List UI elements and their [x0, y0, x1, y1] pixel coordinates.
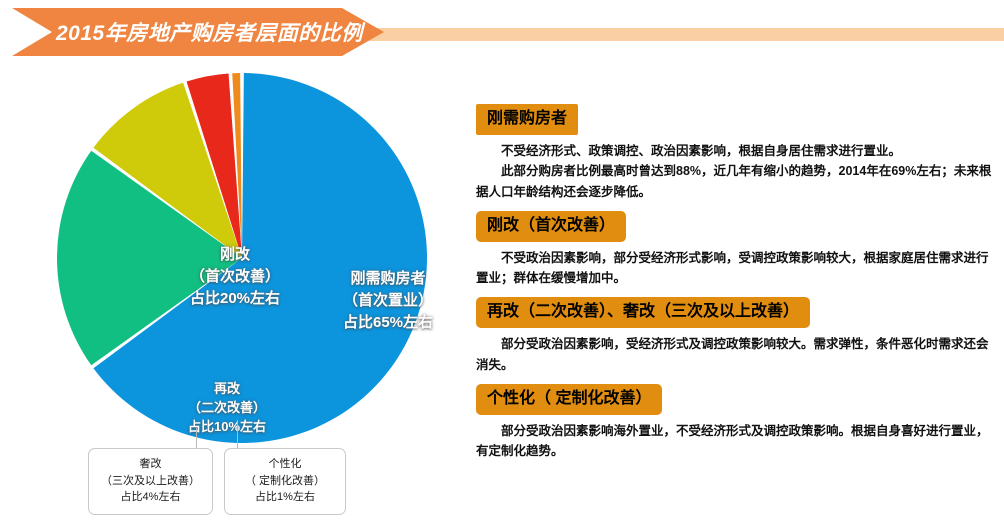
description-block-second-luxury-upgrade: 再改（二次改善）、奢改（三次及以上改善） 部分受政治因素影响，受经济形式及调控政…	[476, 297, 996, 375]
callout-luxury-line3: 占比4%左右	[95, 489, 206, 506]
block-body-first-upgrade-p1: 不受政治因素影响，部分受经济形式影响，受调控政策影响较大，根据家庭居住需求进行置…	[476, 248, 996, 289]
title-banner: 2015年房地产购房者层面的比例	[0, 8, 1004, 56]
callout-personalized-line2: （ 定制化改善）	[231, 473, 339, 490]
block-body-second-luxury-upgrade: 部分受政治因素影响，受经济形式及调控政策影响较大。需求弹性，条件恶化时需求还会消…	[476, 334, 996, 375]
description-panel: 刚需购房者 不受经济形式、政策调控、政治因素影响，根据自身居住需求进行置业。 此…	[476, 104, 996, 470]
block-body-first-home: 不受经济形式、政策调控、政治因素影响，根据自身居住需求进行置业。 此部分购房者比…	[476, 141, 996, 202]
block-body-personalized-p1: 部分受政治因素影响海外置业，不受经济形式及调控政策影响。根据自身喜好进行置业，有…	[476, 421, 996, 462]
callout-luxury-line1: 奢改	[95, 456, 206, 473]
pie-slice-group	[57, 73, 427, 443]
block-heading-personalized: 个性化（ 定制化改善）	[476, 384, 662, 415]
block-body-first-home-p2: 此部分购房者比例最高时曾达到88%，近几年有缩小的趋势，2014年在69%左右；…	[476, 161, 996, 202]
callout-personalized-line1: 个性化	[231, 456, 339, 473]
pie-chart: 刚需购房者 （首次置业） 占比65%左右 刚改 （首次改善） 占比20%左右 再…	[52, 72, 432, 444]
block-heading-first-upgrade: 刚改（首次改善）	[476, 211, 626, 242]
callout-personalized-line3: 占比1%左右	[231, 489, 339, 506]
callout-personalized: 个性化 （ 定制化改善） 占比1%左右	[224, 448, 346, 515]
banner-tail-bar	[356, 28, 1004, 41]
block-heading-second-luxury-upgrade: 再改（二次改善）、奢改（三次及以上改善）	[476, 297, 810, 328]
description-block-first-home: 刚需购房者 不受经济形式、政策调控、政治因素影响，根据自身居住需求进行置业。 此…	[476, 104, 996, 202]
page-title: 2015年房地产购房者层面的比例	[56, 8, 363, 56]
infographic-root: 2015年房地产购房者层面的比例 刚需购房者 （首次置业） 占比65%左右 刚改…	[0, 0, 1004, 520]
block-body-personalized: 部分受政治因素影响海外置业，不受经济形式及调控政策影响。根据自身喜好进行置业，有…	[476, 421, 996, 462]
pie-chart-svg	[52, 72, 432, 444]
block-body-first-upgrade: 不受政治因素影响，部分受经济形式影响，受调控政策影响较大，根据家庭居住需求进行置…	[476, 248, 996, 289]
callout-luxury-line2: （三次及以上改善）	[95, 473, 206, 490]
block-heading-first-home: 刚需购房者	[476, 104, 578, 135]
description-block-personalized: 个性化（ 定制化改善） 部分受政治因素影响海外置业，不受经济形式及调控政策影响。…	[476, 384, 996, 462]
callout-luxury-upgrade: 奢改 （三次及以上改善） 占比4%左右	[88, 448, 213, 515]
block-body-second-luxury-upgrade-p1: 部分受政治因素影响，受经济形式及调控政策影响较大。需求弹性，条件恶化时需求还会消…	[476, 334, 996, 375]
description-block-first-upgrade: 刚改（首次改善） 不受政治因素影响，部分受经济形式影响，受调控政策影响较大，根据…	[476, 211, 996, 289]
block-body-first-home-p1: 不受经济形式、政策调控、政治因素影响，根据自身居住需求进行置业。	[476, 141, 996, 161]
